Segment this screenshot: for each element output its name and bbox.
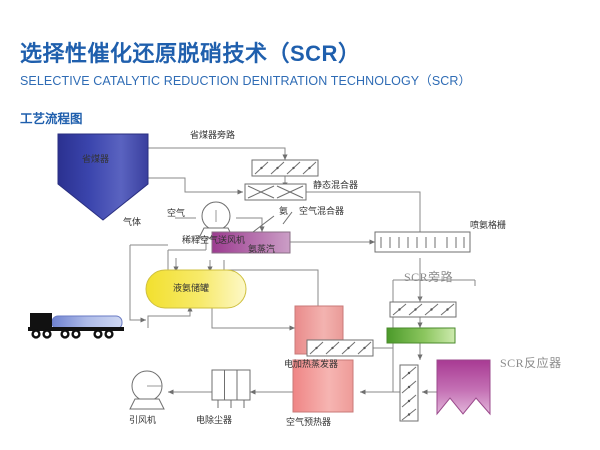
label-scr-reactor: SCR反应器 — [500, 354, 562, 371]
label-air-preheater: 空气预热器 — [286, 415, 331, 428]
label-gas: 气体 — [123, 215, 141, 228]
label-static-mixer: 静态混合器 — [313, 178, 358, 191]
esp-shape — [212, 370, 250, 408]
label-dilution-air-fan: 稀释空气送风机 — [182, 233, 245, 246]
reactor-outlet-damper-shape — [400, 365, 418, 421]
label-ammonia-vapor: 氨蒸汽 — [248, 242, 275, 255]
catalyst-layer-shape — [387, 328, 455, 343]
economizer-shape — [58, 134, 148, 220]
slide-page: 选择性催化还原脱硝技术（SCR） SELECTIVE CATALYTIC RED… — [0, 0, 600, 450]
economizer-bypass-damper-shape — [252, 160, 318, 176]
label-air-mixer: 空气混合器 — [299, 204, 344, 217]
label-esp: 电除尘器 — [196, 413, 232, 426]
label-ammonia: 氨 — [279, 204, 288, 217]
page-subtitle: SELECTIVE CATALYTIC REDUCTION DENITRATIO… — [20, 70, 471, 89]
label-id-fan: 引风机 — [129, 413, 156, 426]
static-mixer-shape — [245, 184, 306, 200]
label-economizer: 省煤器 — [82, 152, 109, 165]
label-economizer-bypass: 省煤器旁路 — [190, 128, 235, 141]
scr-reactor-shape — [437, 360, 490, 414]
tanker-truck-shape — [28, 313, 124, 339]
label-electric-heater-evaporator: 电加热蒸发器 — [284, 357, 338, 370]
id-fan-shape — [130, 371, 164, 409]
label-liquid-ammonia-tank: 液氨储罐 — [173, 281, 209, 294]
scr-bypass-damper-shape — [390, 302, 456, 317]
page-title: 选择性催化还原脱硝技术（SCR） — [20, 36, 360, 68]
label-ammonia-injection-grid: 喷氨格栅 — [470, 218, 506, 231]
process-flow-diagram: 省煤器旁路 省煤器 静态混合器 空气 稀释空气送风机 气体 氨 空气混合器 氨蒸… — [0, 120, 600, 450]
bypass-damper-shape — [307, 340, 373, 356]
ammonia-injection-grid-shape — [375, 232, 470, 252]
label-scr-bypass: SCR旁路 — [404, 268, 453, 285]
label-air: 空气 — [167, 206, 185, 219]
